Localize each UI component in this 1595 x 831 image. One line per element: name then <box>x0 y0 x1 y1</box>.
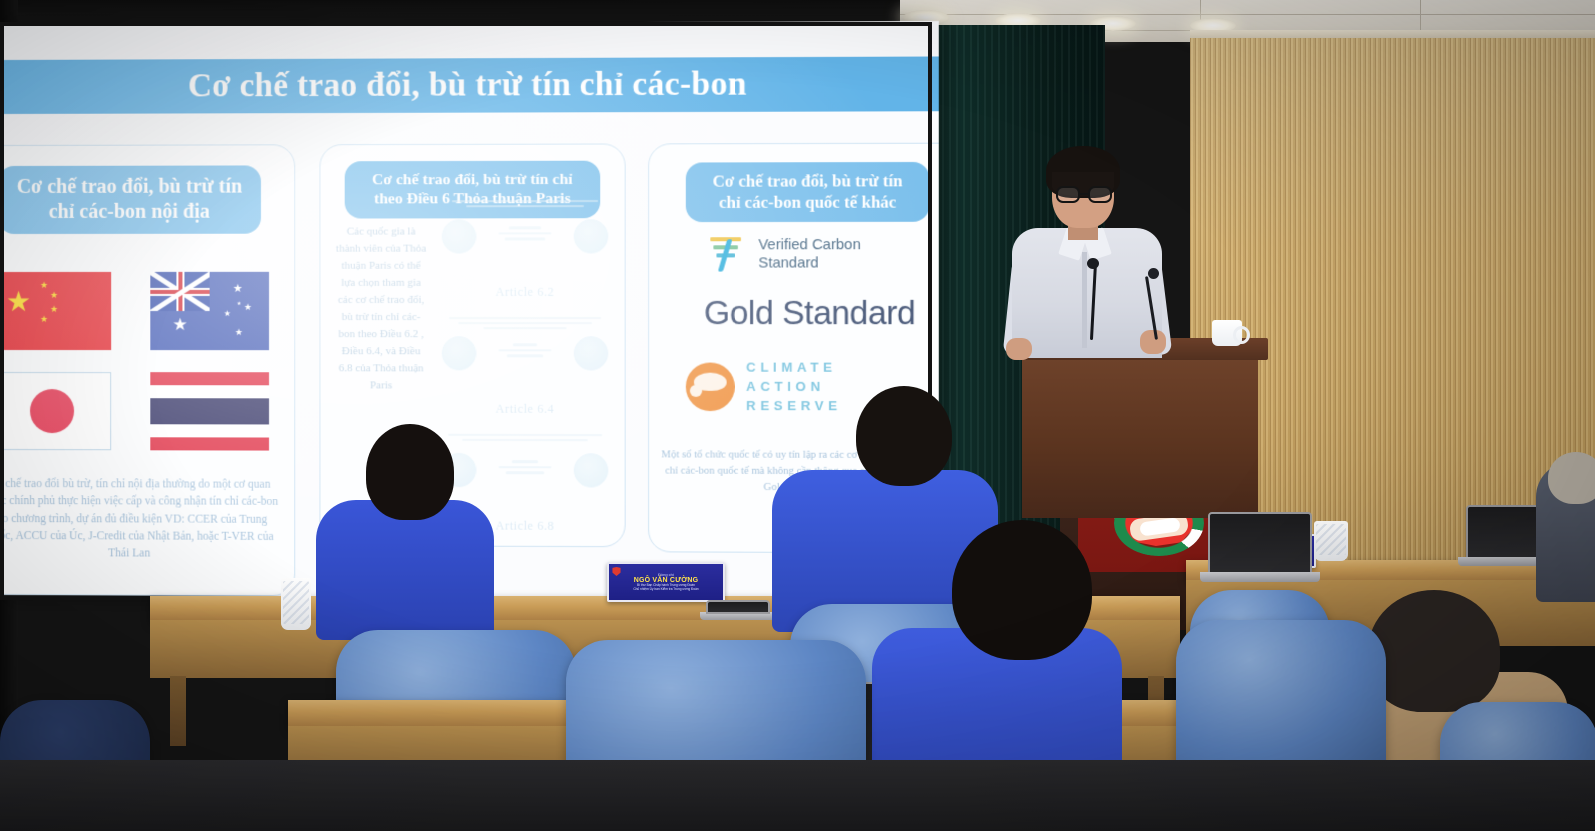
car-line1: CLIMATE <box>746 359 842 378</box>
audience-person-head <box>1368 590 1500 712</box>
audience-person-body <box>316 500 494 640</box>
vcs-mark-icon <box>706 233 749 275</box>
car-line3: RESERVE <box>746 397 842 416</box>
slide-title-bar: Cơ chế trao đổi, bù trừ tín chỉ các-bon <box>0 56 939 114</box>
column-note-domestic: Cơ chế trao đổi bù trừ, tín chỉ nội địa … <box>0 476 280 563</box>
cup-on-head-table <box>1314 521 1348 561</box>
article-label: Article 6.4 <box>434 402 617 417</box>
audience-person-head <box>952 520 1092 660</box>
cup-on-podium <box>1212 320 1242 346</box>
article-label: Article 6.2 <box>434 285 617 300</box>
australia-flag: ★ ★ ★ ★ ★ ★ <box>150 272 269 350</box>
column-body-paris: Các quốc gia là thành viên của Thỏa thuậ… <box>335 223 428 395</box>
climate-action-reserve-logo: CLIMATE ACTION RESERVE <box>686 358 842 415</box>
slide-column-paris-article6: Cơ chế trao đổi, bù trừ tín chỉ theo Điề… <box>319 143 625 547</box>
slide-column-domestic: Cơ chế trao đổi, bù trừ tín chỉ các-bon … <box>0 144 295 596</box>
car-line2: ACTION <box>746 378 842 397</box>
laptop-row1 <box>706 600 770 614</box>
front-left-nameplate: Đồng chí NGÔ VĂN CƯỜNG Bí thư Ban Chấp h… <box>607 562 725 602</box>
microphone-icon <box>1087 258 1099 269</box>
laptop-on-head-table <box>1208 512 1312 574</box>
china-flag: ★ ★ ★ ★ ★ <box>0 272 111 350</box>
vcs-line2: Standard <box>758 254 860 272</box>
article-diagram: Article 6.2 <box>434 193 617 304</box>
laptop-base <box>1200 572 1320 582</box>
chair <box>1176 620 1386 780</box>
column-heading-domestic: Cơ chế trao đổi, bù trừ tín chỉ các-bon … <box>0 165 261 234</box>
youth-union-logo-icon <box>612 567 621 576</box>
flag-grid: ★ ★ ★ ★ ★ ★ ★ ★ ★ ★ ★ <box>0 272 280 451</box>
podium-body <box>1022 358 1258 518</box>
speaker-shirt-placket <box>1082 252 1087 348</box>
desk-leg <box>170 676 186 746</box>
article-diagrams: Article 6.2 Article 6.4 Article 6.8 <box>434 193 617 544</box>
gold-standard-logo: Gold Standard <box>672 294 939 333</box>
speaker-right-hand <box>1140 330 1166 354</box>
audience-person-head <box>856 386 952 486</box>
thailand-flag <box>150 372 269 450</box>
verified-carbon-standard-logo: Verified Carbon Standard <box>706 233 860 276</box>
slide-title: Cơ chế trao đổi, bù trừ tín chỉ các-bon <box>188 66 747 105</box>
cup-row1-left <box>281 578 311 630</box>
audience-person-head <box>366 424 454 520</box>
audience-person-head-right-edge <box>1548 452 1595 504</box>
floor <box>0 760 1595 831</box>
article-diagram: Article 6.4 <box>434 310 617 421</box>
car-globe-icon <box>686 363 735 412</box>
nameplate-role: Bí thư Ban Chấp hành Trung ương Đoàn Chủ… <box>633 584 698 591</box>
column-heading-other: Cơ chế trao đổi, bù trừ tín chỉ các-bon … <box>686 162 930 222</box>
microphone-icon <box>1148 268 1159 279</box>
japan-flag <box>0 372 111 450</box>
speaker-left-hand <box>1006 338 1032 360</box>
vcs-line1: Verified Carbon <box>758 236 860 254</box>
eyeglasses-icon <box>1056 186 1112 203</box>
conference-room-photo: Cơ chế trao đổi, bù trừ tín chỉ các-bon … <box>0 0 1595 831</box>
